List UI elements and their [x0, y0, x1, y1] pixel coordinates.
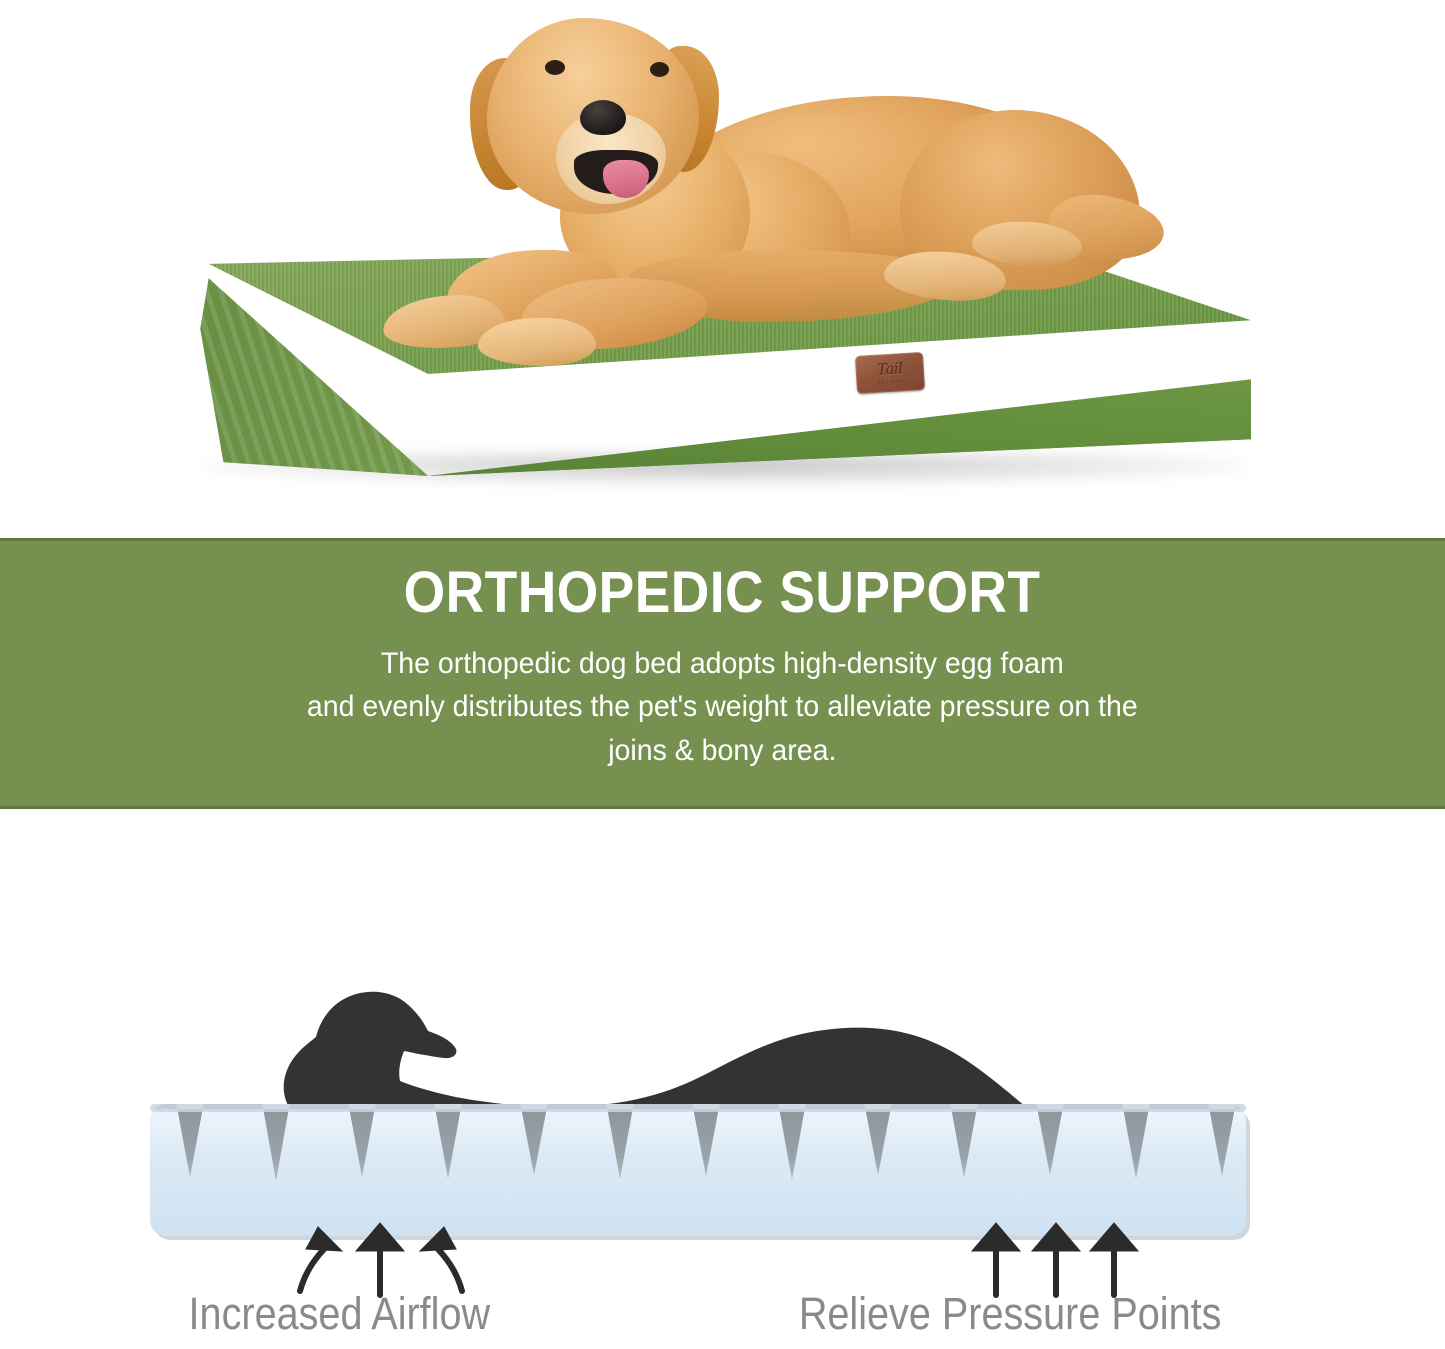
dog-eye-right — [650, 62, 669, 77]
golden-retriever-photo — [0, 0, 1445, 538]
dog-eye-left — [545, 60, 565, 75]
banner-body-line-1: The orthopedic dog bed adopts high-densi… — [307, 642, 1138, 686]
airflow-arrows — [300, 1223, 462, 1295]
product-feature-graphic: Tail PET BED — [0, 0, 1445, 1349]
label-relieve-pressure-points: Relieve Pressure Points — [799, 1288, 1222, 1340]
banner-title: ORTHOPEDIC SUPPORT — [404, 563, 1041, 624]
hero-product-photo: Tail PET BED — [0, 0, 1445, 538]
egg-crate-foam-block — [150, 1102, 1250, 1240]
label-increased-airflow: Increased Airflow — [189, 1288, 491, 1340]
foam-cross-section-diagram — [0, 809, 1445, 1349]
orthopedic-support-banner: ORTHOPEDIC SUPPORT The orthopedic dog be… — [0, 538, 1445, 809]
hero-stage: Tail PET BED — [0, 0, 1445, 538]
banner-body: The orthopedic dog bed adopts high-densi… — [307, 642, 1138, 773]
pressure-arrows — [972, 1223, 1138, 1295]
banner-body-line-2: and evenly distributes the pet's weight … — [307, 685, 1138, 729]
dog-nose — [580, 100, 626, 135]
banner-body-line-3: joins & bony area. — [307, 729, 1138, 773]
diagram-illustration — [0, 809, 1445, 1349]
dog-front-paw-right — [478, 318, 596, 366]
